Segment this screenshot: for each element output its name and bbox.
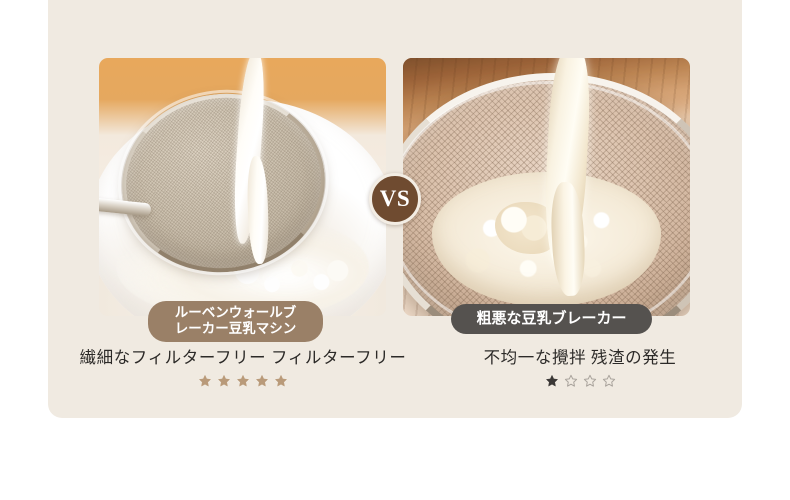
star-filled-icon	[217, 374, 231, 388]
product-photo-right	[403, 58, 690, 316]
comparison-card-left	[99, 58, 386, 316]
rating-stars-right	[418, 374, 742, 388]
comparison-page: VS ルーベンウォールブ レーカー豆乳マシン 粗悪な豆乳ブレーカー 繊細なフィル…	[0, 0, 790, 500]
star-filled-icon	[255, 374, 269, 388]
star-empty-icon	[583, 374, 597, 388]
caption-block-left: 繊細なフィルターフリー フィルターフリー	[48, 344, 438, 388]
rating-stars-left	[48, 374, 438, 388]
caption-text-left: 繊細なフィルターフリー フィルターフリー	[48, 344, 438, 368]
comparison-card-right	[403, 58, 690, 316]
star-filled-icon	[545, 374, 559, 388]
star-empty-icon	[602, 374, 616, 388]
label-badge-left: ルーベンウォールブ レーカー豆乳マシン	[148, 301, 323, 342]
star-filled-icon	[198, 374, 212, 388]
star-filled-icon	[274, 374, 288, 388]
caption-block-right: 不均一な攪拌 残渣の発生	[418, 344, 742, 388]
star-filled-icon	[236, 374, 250, 388]
label-badge-right: 粗悪な豆乳ブレーカー	[451, 304, 652, 334]
vs-badge: VS	[369, 173, 421, 225]
product-photo-left	[99, 58, 386, 316]
star-empty-icon	[564, 374, 578, 388]
caption-text-right: 不均一な攪拌 残渣の発生	[418, 344, 742, 368]
